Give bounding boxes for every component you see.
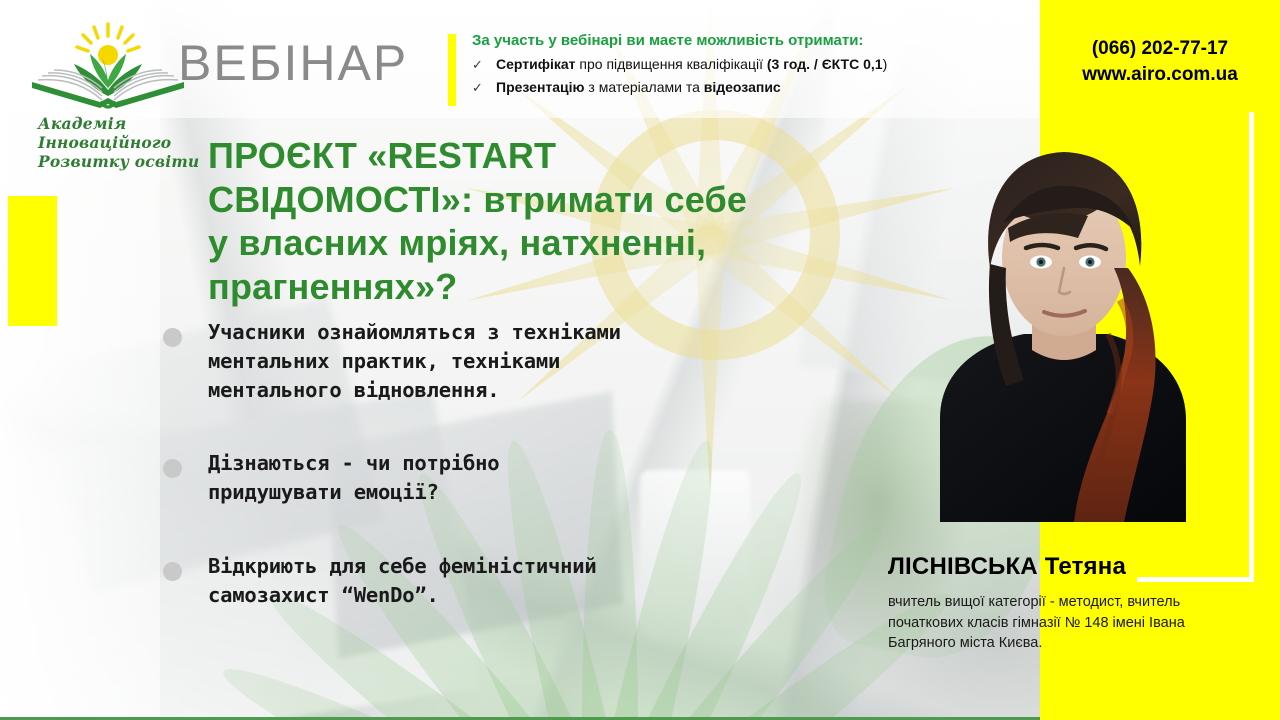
page-title-line-2: СВІДОМОСТІ»: втримати себе (208, 178, 898, 222)
offer-item-middle: з матеріалами та (588, 79, 699, 95)
white-frame-vertical (1249, 112, 1254, 582)
offer-title: За участь у вебінарі ви маєте можливість… (472, 32, 1008, 51)
page-title: ПРОЄКТ «RESTART СВІДОМОСТІ»: втримати се… (208, 134, 898, 308)
page-title-line-4: прагненнях»? (208, 265, 898, 309)
white-frame-horizontal (1137, 577, 1254, 582)
speaker-role: вчитель вищої категорії - методист, вчит… (888, 592, 1240, 654)
webinar-slide: Академія Інноваційного Розвитку освіти В… (0, 0, 1280, 720)
academy-name: Академія Інноваційного Розвитку освіти (38, 114, 200, 171)
offer-item: ✓ Сертифікат про підвищення кваліфікації… (472, 55, 1008, 74)
bullet-dot-icon (163, 459, 182, 478)
academy-name-line-1: Академія (38, 114, 200, 133)
academy-logo: Академія Інноваційного Розвитку освіти (22, 22, 194, 172)
list-item-line: Відкриють для себе феміністичний (208, 552, 597, 581)
page-title-line-3: у власних мріях, натхненні, (208, 221, 898, 265)
offer-item-lead: Презентацію (496, 79, 585, 95)
list-item: Дізнаються - чи потрібно придушувати емо… (160, 449, 900, 507)
academy-name-line-3: Розвитку освіти (38, 152, 200, 171)
list-item-line: придушувати емоції? (208, 478, 499, 507)
offer-item: ✓ Презентацію з матеріалами та відеозапи… (472, 78, 1008, 97)
list-item-text: Відкриють для себе феміністичний самозах… (208, 552, 597, 610)
list-item-line: Учасники ознайомляться з техніками (208, 318, 621, 347)
offer-item-lead: Сертифікат (496, 56, 576, 72)
contact-website[interactable]: www.airo.com.ua (1040, 62, 1280, 88)
list-item-text: Учасники ознайомляться з техніками мента… (208, 318, 621, 405)
contact-block: (066) 202-77-17 www.airo.com.ua (1040, 36, 1280, 87)
offer-yellow-bar (448, 34, 456, 106)
offer-item-middle: про підвищення кваліфікації (579, 56, 763, 72)
offer-item-tail: відеозапис (704, 79, 781, 95)
offer-item-tail: (3 год. / ЄКТС 0,1 (767, 56, 883, 72)
list-item-line: Дізнаються - чи потрібно (208, 449, 499, 478)
check-icon: ✓ (472, 80, 486, 97)
list-item: Учасники ознайомляться з техніками мента… (160, 318, 900, 405)
list-item: Відкриють для себе феміністичний самозах… (160, 552, 900, 610)
speaker-role-line: Багряного міста Києва. (888, 633, 1240, 654)
bullet-dot-icon (163, 562, 182, 581)
sun-sprout-book-icon (22, 22, 194, 114)
list-item-line: ментального відновлення. (208, 376, 621, 405)
offer-block: За участь у вебінарі ви маєте можливість… (448, 32, 1008, 97)
speaker-name: ЛІСНІВСЬКА Тетяна (888, 553, 1126, 581)
bullet-dot-icon (163, 328, 182, 347)
check-icon: ✓ (472, 57, 486, 74)
yellow-accent-block (8, 196, 57, 326)
list-item-line: самозахист “WenDo”. (208, 581, 597, 610)
contact-phone[interactable]: (066) 202-77-17 (1040, 36, 1280, 62)
event-type-label: ВЕБІНАР (178, 38, 408, 88)
speaker-role-line: початкових класів гімназії № 148 імені І… (888, 613, 1240, 634)
academy-name-line-2: Інноваційного (38, 133, 200, 152)
speaker-photo (928, 118, 1200, 522)
offer-item-tail-end: ) (883, 56, 888, 72)
speaker-role-line: вчитель вищої категорії - методист, вчит… (888, 592, 1240, 613)
list-item-line: ментальних практик, техніками (208, 347, 621, 376)
list-item-text: Дізнаються - чи потрібно придушувати емо… (208, 449, 499, 507)
bullet-list: Учасники ознайомляться з техніками мента… (160, 318, 900, 654)
page-title-line-1: ПРОЄКТ «RESTART (208, 134, 898, 178)
